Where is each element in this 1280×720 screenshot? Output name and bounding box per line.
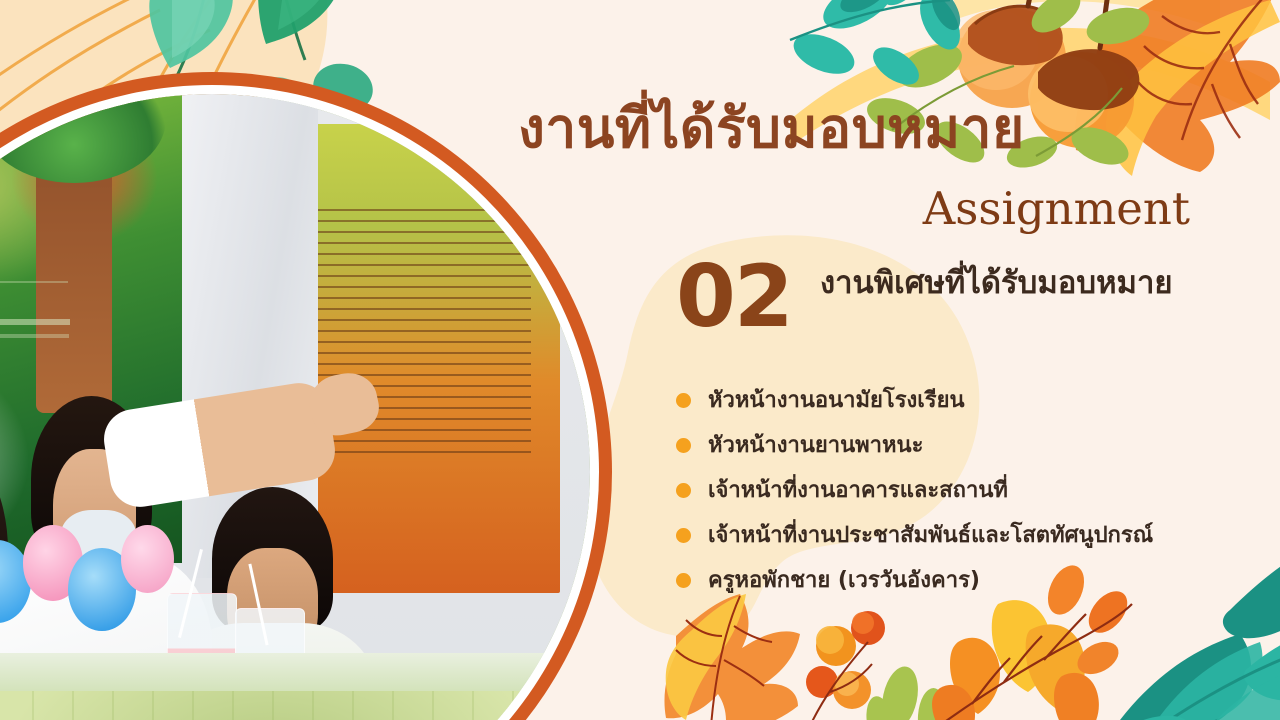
list-item: หัวหน้างานยานพาหนะ: [676, 423, 1276, 468]
list-item-label: หัวหน้างานยานพาหนะ: [708, 435, 923, 457]
section-subtitle: งานพิเศษที่ได้รับมอบหมาย: [820, 268, 1173, 299]
list-item: เจ้าหน้าที่งานประชาสัมพันธ์และโสตทัศนูปก…: [676, 513, 1276, 558]
list-item-label: เจ้าหน้าที่งานอาคารและสถานที่: [708, 480, 1008, 502]
list-item: หัวหน้างานอนามัยโรงเรียน: [676, 378, 1276, 423]
list-item: ครูหอพักชาย (เวรวันอังคาร): [676, 558, 1276, 603]
bullet-dot-icon: [676, 528, 691, 543]
list-item-label: เจ้าหน้าที่งานประชาสัมพันธ์และโสตทัศนูปก…: [708, 525, 1153, 547]
page-title-thai: งานที่ได้รับมอบหมาย: [518, 100, 1058, 158]
bullet-dot-icon: [676, 573, 691, 588]
section-number: 02: [676, 254, 792, 340]
list-item-label: ครูหอพักชาย (เวรวันอังคาร): [708, 570, 980, 592]
page-title-english: Assignment: [923, 186, 1190, 231]
list-item-label: หัวหน้างานอนามัยโรงเรียน: [708, 390, 965, 412]
slide-canvas: งานที่ได้รับมอบหมาย Assignment 02 งานพิเ…: [0, 0, 1280, 720]
assignment-list: หัวหน้างานอนามัยโรงเรียน หัวหน้างานยานพา…: [676, 378, 1276, 603]
content-area: งานที่ได้รับมอบหมาย Assignment 02 งานพิเ…: [500, 0, 1280, 720]
list-item: เจ้าหน้าที่งานอาคารและสถานที่: [676, 468, 1276, 513]
bullet-dot-icon: [676, 483, 691, 498]
bullet-dot-icon: [676, 438, 691, 453]
bullet-dot-icon: [676, 393, 691, 408]
